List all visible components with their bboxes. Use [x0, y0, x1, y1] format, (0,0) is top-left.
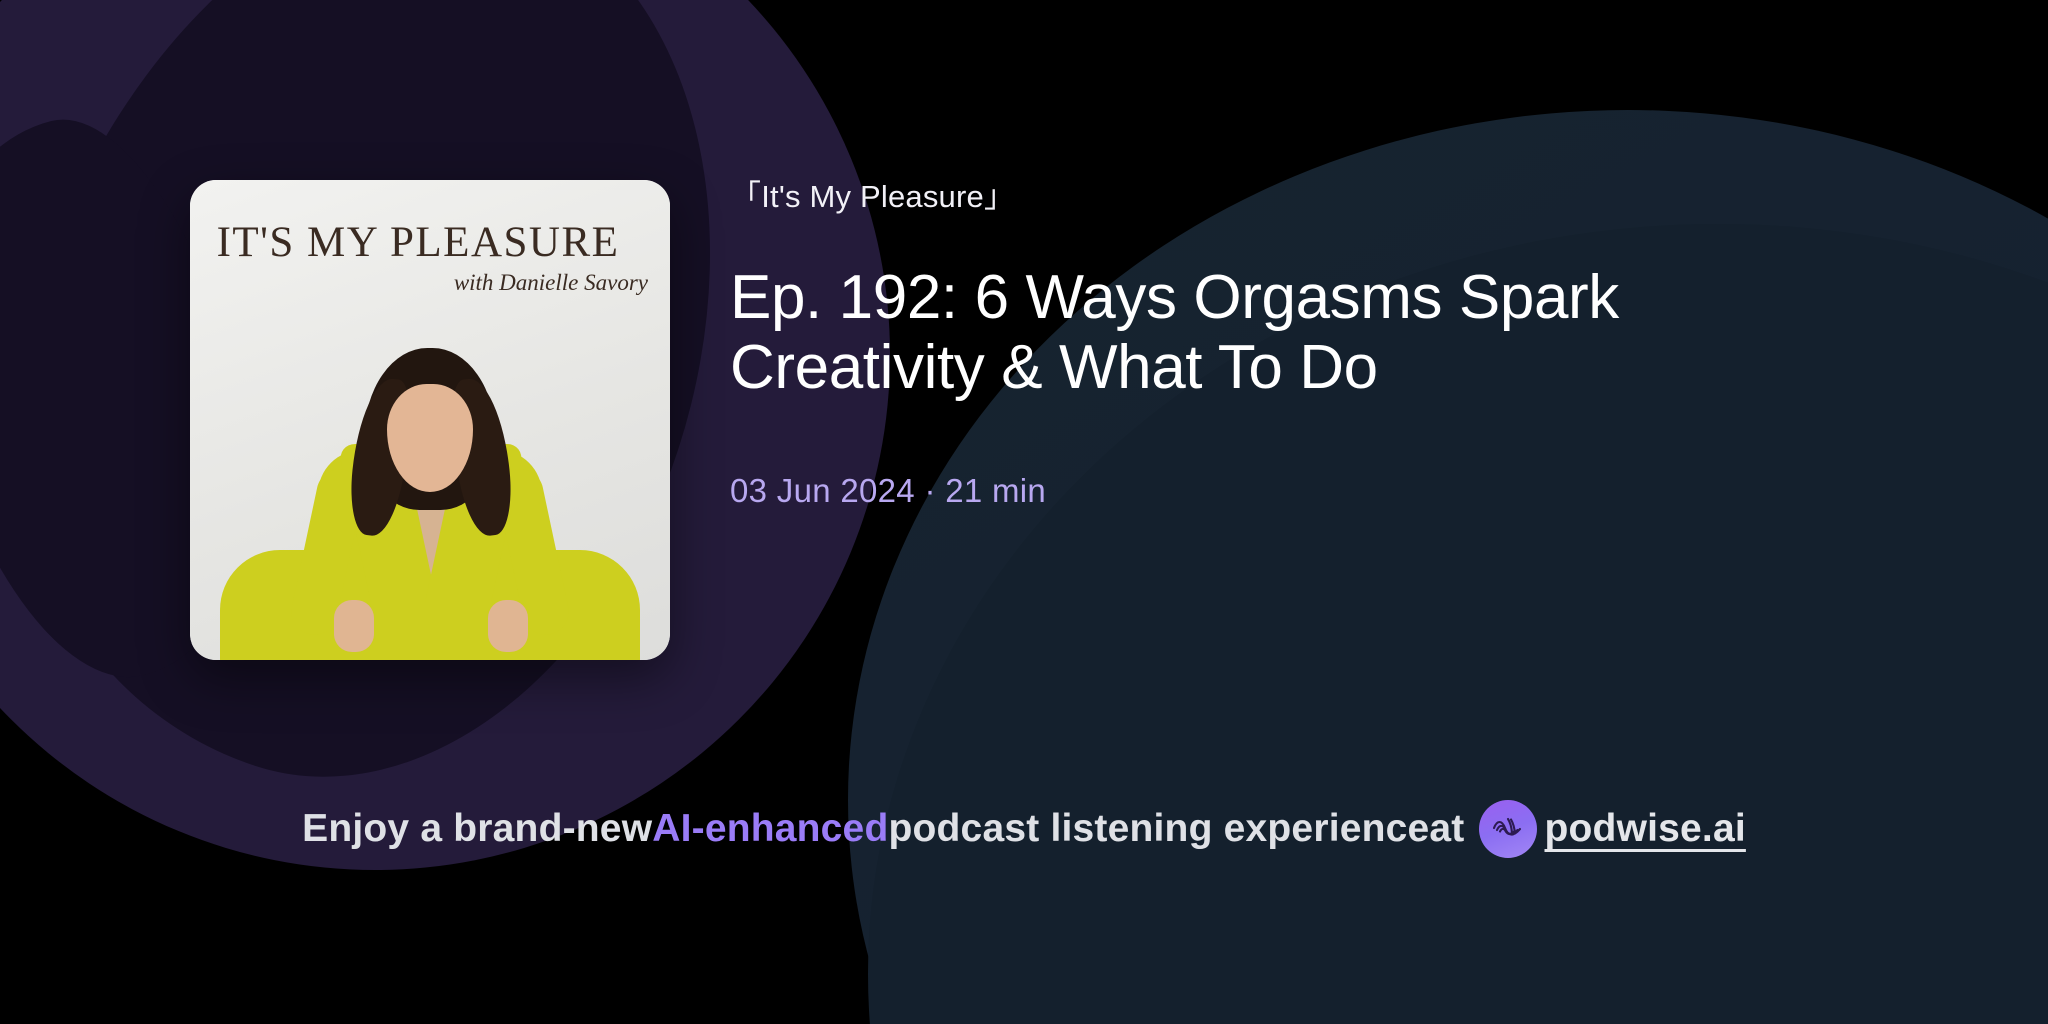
meta-separator: ·	[924, 472, 935, 509]
promo-text-at: at	[1429, 807, 1464, 851]
cover-art-host-photo	[190, 330, 670, 660]
episode-date: 03 Jun 2024	[730, 472, 915, 509]
cover-art-subtitle: with Danielle Savory	[454, 270, 648, 296]
figure-hand-right	[488, 600, 528, 652]
cover-art-title: IT'S MY PLEASURE	[190, 218, 646, 267]
episode-meta: 03 Jun 2024 · 21 min	[730, 472, 1930, 510]
figure-hand-left	[334, 600, 374, 652]
podwise-logo-icon	[1479, 800, 1537, 858]
promo-text-middle: podcast listening experience	[888, 807, 1429, 851]
share-card: IT'S MY PLEASURE with Danielle Savory	[0, 0, 2048, 1024]
episode-info: 「It's My Pleasure」 Ep. 192: 6 Ways Orgas…	[730, 178, 1930, 510]
cover-art-canvas: IT'S MY PLEASURE with Danielle Savory	[190, 180, 670, 660]
card-content: IT'S MY PLEASURE with Danielle Savory	[0, 0, 2048, 1024]
episode-duration: 21 min	[945, 472, 1046, 509]
promo-banner: Enjoy a brand-new AI-enhanced podcast li…	[0, 800, 2048, 858]
episode-title: Ep. 192: 6 Ways Orgasms Spark Creativity…	[730, 263, 1930, 402]
promo-text-accent: AI-enhanced	[652, 807, 888, 851]
episode-title-line-1: Ep. 192: 6 Ways Orgasms Spark	[730, 263, 1930, 332]
podwise-brand-link[interactable]: podwise.ai	[1545, 807, 1746, 851]
podcast-name: 「It's My Pleasure」	[730, 178, 1930, 215]
podcast-cover-art[interactable]: IT'S MY PLEASURE with Danielle Savory	[190, 180, 670, 660]
promo-text-before: Enjoy a brand-new	[302, 807, 652, 851]
episode-title-line-2: Creativity & What To Do	[730, 333, 1930, 402]
